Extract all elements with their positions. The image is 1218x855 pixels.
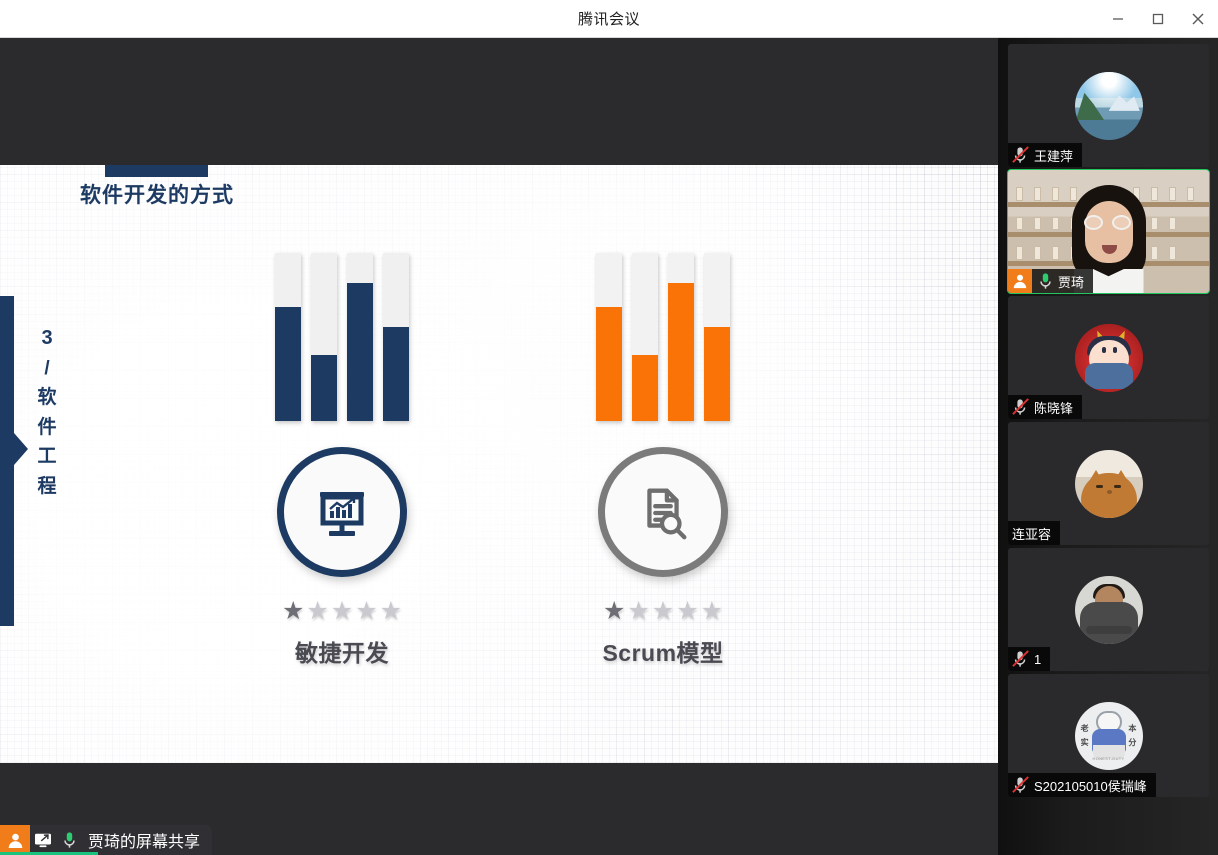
participant-name: 贾琦 <box>1058 272 1084 291</box>
star-icon: ★ <box>282 599 304 624</box>
avatar <box>1075 576 1143 644</box>
presentation-slide: 软件开发的方式 3 / 软 件 工 程 <box>0 165 998 763</box>
bar-track <box>311 253 337 421</box>
mic-muted-icon <box>1008 398 1034 416</box>
star-icon: ★ <box>306 599 328 624</box>
star-icon: ★ <box>355 599 377 624</box>
slide-title: 软件开发的方式 <box>80 179 234 209</box>
title-accent-bar <box>105 165 208 177</box>
bar-fill <box>632 355 658 421</box>
avatar <box>1075 72 1143 140</box>
avatar <box>1075 324 1143 392</box>
participant-name: S202105010侯瑞峰 <box>1034 776 1147 795</box>
star-icon: ★ <box>603 599 625 624</box>
section-band <box>0 296 14 626</box>
presenter-icon <box>0 825 30 855</box>
bar-fill <box>596 307 622 421</box>
mic-on-icon[interactable] <box>56 831 82 849</box>
section-char-0: 软 <box>37 383 56 412</box>
share-status-pill[interactable]: 贾琦的屏幕共享 <box>0 825 212 855</box>
participant-name-chip: 1 <box>1008 647 1050 671</box>
mic-muted-icon <box>1008 650 1034 668</box>
share-status-label: 贾琦的屏幕共享 <box>82 828 212 852</box>
bar-chart-agile <box>275 253 409 421</box>
star-icon: ★ <box>627 599 649 624</box>
window-title: 腾讯会议 <box>578 8 640 29</box>
bar-fill <box>668 283 694 421</box>
section-arrow-icon <box>14 433 28 465</box>
rating-stars-agile: ★★★★★ <box>275 599 409 624</box>
caption-scrum: Scrum模型 <box>596 634 730 668</box>
presentation-chart-icon <box>277 447 407 577</box>
bar-track <box>383 253 409 421</box>
bar-track <box>347 253 373 421</box>
avatar: 老实 本分 HONEST-DUTY <box>1075 702 1143 770</box>
bar-track <box>596 253 622 421</box>
participant-tile[interactable]: 贾琦 <box>1008 170 1209 293</box>
bar-track <box>275 253 301 421</box>
participant-name: 1 <box>1034 652 1041 667</box>
participant-rail[interactable]: 王建萍 贾琦 陈晓锋 连亚容 1 老实 本分 HO <box>998 38 1218 855</box>
bar-track <box>632 253 658 421</box>
mic-muted-icon <box>1008 146 1034 164</box>
participant-name: 王建萍 <box>1034 146 1073 165</box>
section-number: 3 <box>41 323 52 354</box>
participant-tile[interactable]: 1 <box>1008 548 1209 671</box>
participant-name-chip: 王建萍 <box>1008 143 1082 167</box>
section-label: 3 / 软 件 工 程 <box>30 323 64 501</box>
window-controls <box>1098 0 1218 38</box>
mic-muted-icon <box>1008 776 1034 794</box>
bar-chart-scrum <box>596 253 730 421</box>
bar-fill <box>311 355 337 421</box>
participant-name: 陈晓锋 <box>1034 398 1073 417</box>
bar-track <box>668 253 694 421</box>
rating-stars-scrum: ★★★★★ <box>596 599 730 624</box>
section-char-1: 件 <box>37 413 56 442</box>
document-search-icon <box>598 447 728 577</box>
bar-fill <box>383 327 409 421</box>
star-icon: ★ <box>652 599 674 624</box>
slide-light-wash <box>0 165 998 763</box>
mic-on-icon <box>1032 272 1058 290</box>
screen-share-icon[interactable] <box>30 832 56 848</box>
participant-tile[interactable]: 王建萍 <box>1008 44 1209 167</box>
caption-agile: 敏捷开发 <box>275 634 409 668</box>
participant-tile[interactable]: 老实 本分 HONEST-DUTY S202105010侯瑞峰 <box>1008 674 1209 797</box>
minimize-button[interactable] <box>1098 0 1138 38</box>
participant-name-chip: S202105010侯瑞峰 <box>1008 773 1156 797</box>
star-icon: ★ <box>380 599 402 624</box>
slide-group-scrum: ★★★★★ Scrum模型 <box>596 253 730 668</box>
maximize-button[interactable] <box>1138 0 1178 38</box>
participant-tile[interactable]: 陈晓锋 <box>1008 296 1209 419</box>
presenter-icon <box>1008 269 1032 293</box>
participant-tile[interactable]: 连亚容 <box>1008 422 1209 545</box>
shared-screen-stage[interactable]: 软件开发的方式 3 / 软 件 工 程 <box>0 38 998 855</box>
section-char-2: 工 <box>37 442 56 471</box>
participant-name: 连亚容 <box>1012 524 1051 543</box>
participant-name-chip: 贾琦 <box>1008 269 1093 293</box>
close-button[interactable] <box>1178 0 1218 38</box>
share-status-bar: 贾琦的屏幕共享 <box>0 817 998 855</box>
bar-fill <box>704 327 730 421</box>
bar-fill <box>275 307 301 421</box>
star-icon: ★ <box>331 599 353 624</box>
participant-name-chip: 连亚容 <box>1008 521 1060 545</box>
slide-group-agile: ★★★★★ 敏捷开发 <box>275 253 409 668</box>
bar-track <box>704 253 730 421</box>
section-char-3: 程 <box>37 472 56 501</box>
participant-name-chip: 陈晓锋 <box>1008 395 1082 419</box>
meeting-window: 腾讯会议 软件开发的方式 3 / 软 <box>0 0 1218 855</box>
title-bar: 腾讯会议 <box>0 0 1218 38</box>
section-divider: / <box>44 354 49 383</box>
star-icon: ★ <box>701 599 723 624</box>
star-icon: ★ <box>676 599 698 624</box>
bar-fill <box>347 283 373 421</box>
avatar <box>1075 450 1143 518</box>
